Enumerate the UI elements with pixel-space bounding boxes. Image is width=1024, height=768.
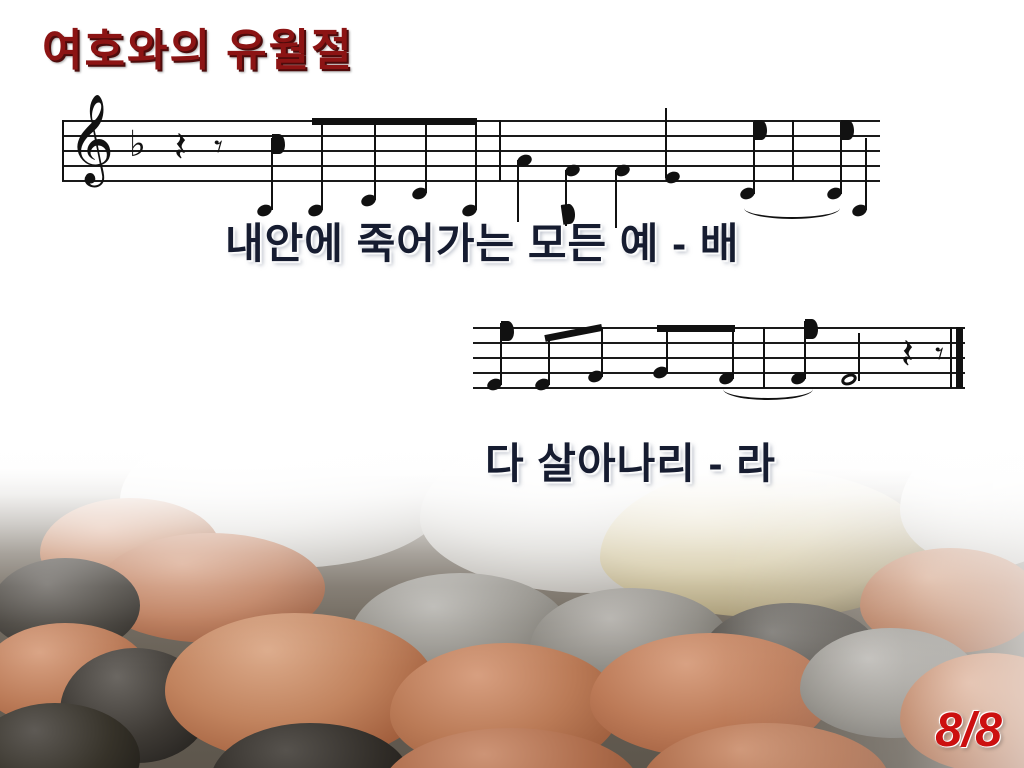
eighth-flag-icon bbox=[754, 120, 767, 140]
lyric-line-2: 다 살아나리 - 라 bbox=[485, 430, 776, 491]
eighth-rest-icon: 𝄾 bbox=[935, 337, 944, 371]
final-barline-thin bbox=[950, 327, 952, 388]
note-stem bbox=[374, 120, 376, 200]
staff-line bbox=[473, 357, 965, 359]
tie-slur bbox=[744, 206, 840, 219]
staff-system-1: 𝄞 ♭ 𝄽 𝄾 bbox=[62, 120, 880, 182]
note-stem bbox=[548, 336, 550, 385]
tie-slur bbox=[723, 387, 813, 400]
staff-line bbox=[473, 342, 965, 344]
eighth-beam bbox=[312, 118, 477, 125]
flat-key-signature-icon: ♭ bbox=[129, 124, 146, 165]
note-stem bbox=[425, 120, 427, 193]
note-stem bbox=[475, 120, 477, 210]
quarter-rest-icon: 𝄽 bbox=[901, 333, 914, 375]
treble-clef-icon: 𝄞 bbox=[68, 100, 114, 178]
quarter-rest-icon: 𝄽 bbox=[174, 126, 187, 168]
note-stem bbox=[865, 138, 867, 210]
eighth-flag-icon bbox=[841, 120, 854, 140]
slide-canvas: 여호와의 유월절 𝄞 ♭ 𝄽 𝄾 bbox=[0, 0, 1024, 768]
note-stem bbox=[858, 333, 860, 381]
note-stem bbox=[321, 120, 323, 210]
page-title: 여호와의 유월절 bbox=[42, 14, 354, 78]
note-stem bbox=[601, 327, 603, 377]
note-stem bbox=[732, 327, 734, 379]
page-number: 8/8 bbox=[935, 703, 1002, 758]
half-note-head bbox=[840, 371, 859, 387]
measure-barline bbox=[499, 120, 501, 181]
staff-system-2: 𝄽 𝄾 bbox=[473, 327, 965, 389]
eighth-flag-icon bbox=[272, 134, 285, 154]
measure-barline bbox=[792, 120, 794, 181]
eighth-flag-icon bbox=[805, 319, 818, 339]
measure-barline bbox=[763, 327, 765, 388]
note-stem bbox=[666, 327, 668, 373]
note-stem bbox=[665, 108, 667, 178]
eighth-rest-icon: 𝄾 bbox=[214, 130, 223, 164]
staff-line bbox=[62, 180, 880, 182]
final-barline-thick bbox=[956, 327, 963, 388]
lyric-line-1: 내안에 죽어가는 모든 예 - 배 bbox=[225, 210, 739, 271]
eighth-flag-icon bbox=[501, 321, 514, 341]
staff-start-barline bbox=[62, 120, 64, 181]
eighth-beam bbox=[657, 325, 735, 332]
staff-line bbox=[473, 372, 965, 374]
